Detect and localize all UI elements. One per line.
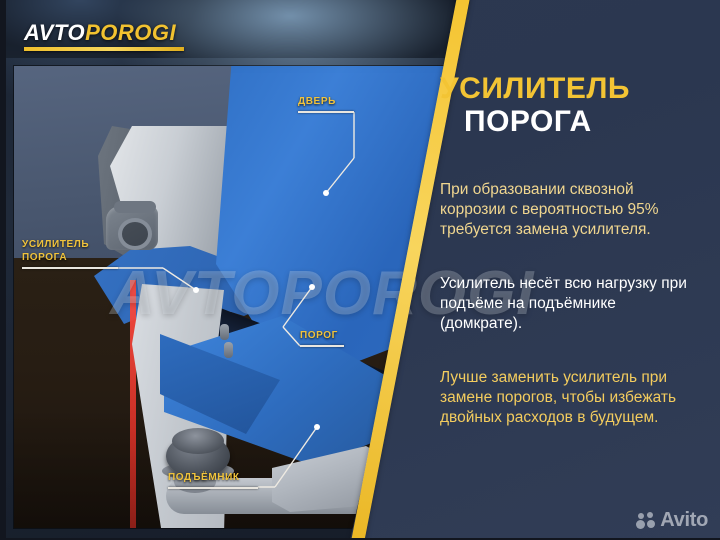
paragraph-advice: Лучше заменить усилитель при замене поро… [440, 368, 702, 428]
info-content: УСИЛИТЕЛЬ ПОРОГА При образовании сквозно… [440, 72, 702, 428]
door-hinge-ring [118, 218, 152, 250]
paragraph-corrosion: При образовании сквозной коррозии с веро… [440, 180, 702, 240]
callout-door: ДВЕРЬ [298, 96, 354, 113]
paragraph-load: Усилитель несёт всю нагрузку при подъёме… [440, 274, 702, 334]
brand-logo: AVTOPOROGI [24, 22, 184, 51]
callout-sill-label: ПОРОГ [300, 330, 344, 342]
callout-sill: ПОРОГ [300, 330, 344, 347]
brand-logo-underline [24, 47, 184, 51]
callout-door-label: ДВЕРЬ [298, 96, 354, 108]
page-title: УСИЛИТЕЛЬ ПОРОГА [440, 72, 702, 138]
callout-sill-underline [300, 345, 344, 347]
page-title-line2: ПОРОГА [464, 105, 702, 138]
lift-pad-top [172, 428, 224, 454]
brand-logo-part1: AVTO [24, 20, 85, 45]
callout-lift: ПОДЪЁМНИК [168, 472, 258, 489]
brand-logo-text: AVTOPOROGI [24, 22, 184, 44]
brand-logo-part2: POROGI [85, 20, 176, 45]
callout-door-underline [298, 111, 354, 113]
callout-reinforcement-label-line2: ПОРОГА [22, 251, 118, 264]
callout-reinforcement-label-line1: УСИЛИТЕЛЬ [22, 238, 118, 251]
callout-reinforcement-underline [22, 267, 118, 269]
door-hinge-bar [114, 201, 156, 213]
infographic-stage: ДВЕРЬ УСИЛИТЕЛЬ ПОРОГА ПОРОГ ПОДЪЁМНИК A… [0, 0, 720, 540]
avito-logo-icon [636, 512, 656, 530]
avito-watermark: Avito [636, 509, 708, 532]
callout-lift-label: ПОДЪЁМНИК [168, 472, 258, 484]
fastener-bolt [224, 342, 233, 358]
callout-reinforcement: УСИЛИТЕЛЬ ПОРОГА [22, 238, 118, 269]
callout-lift-underline [168, 487, 258, 489]
avito-wordmark: Avito [660, 509, 708, 532]
page-title-line1: УСИЛИТЕЛЬ [440, 72, 702, 105]
